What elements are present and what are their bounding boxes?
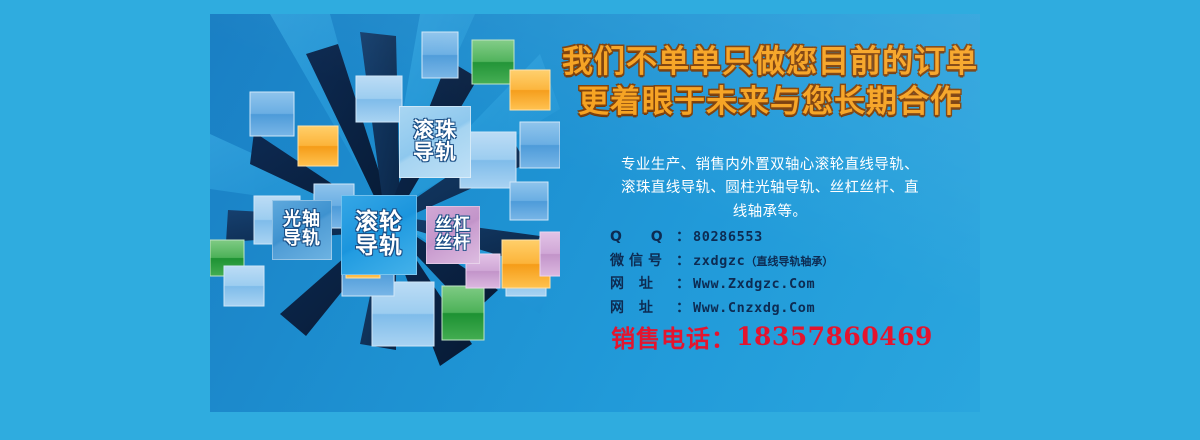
cube-label-line2: 丝杆	[435, 235, 471, 253]
description-line-3: 线轴承等。	[566, 201, 974, 224]
sales-phone[interactable]: 销售电话：18357860469	[570, 319, 974, 354]
contact-row-website-2: 网 址 ： Www.Cnzxdg.Com	[610, 297, 980, 320]
contact-value-wechat[interactable]: zxdgzc	[693, 251, 745, 273]
contact-separator: ：	[676, 250, 690, 272]
contact-label-qq: Q Q	[610, 226, 676, 248]
contact-value-website-1[interactable]: Www.Zxdgzc.Com	[693, 274, 815, 296]
contact-separator: ：	[676, 297, 690, 319]
product-cube-guangzhou-daogui[interactable]: 光轴 导轨	[272, 200, 332, 260]
contact-label-wechat: 微信号	[610, 250, 676, 272]
contact-block: Q Q ： 80286553 微信号 ： zxdgzc （直线导轨轴承） 网 址…	[610, 226, 980, 320]
cube-label-line2: 导轨	[413, 142, 457, 164]
contact-separator: ：	[676, 226, 690, 248]
contact-value-qq[interactable]: 80286553	[693, 227, 763, 249]
headline-line-1: 我们不单单只做您目前的订单	[562, 42, 978, 82]
contact-row-qq: Q Q ： 80286553	[610, 226, 980, 249]
product-cube-sigang-sigan[interactable]: 丝杠 丝杆	[426, 206, 480, 264]
cube-label-line1: 滚轮	[355, 211, 403, 235]
sales-phone-label: 销售电话：	[611, 325, 736, 353]
contact-note-wechat: （直线导轨轴承）	[745, 253, 833, 271]
headline-line-2: 更着眼于未来与您长期合作	[562, 82, 978, 122]
contact-separator: ：	[676, 273, 690, 295]
description-line-2: 滚珠直线导轨、圆柱光轴导轨、丝杠丝杆、直	[566, 177, 974, 200]
product-cube-gunzhu-daogui[interactable]: 滚珠 导轨	[399, 106, 471, 178]
contact-label-website-1: 网 址	[610, 273, 676, 295]
cube-label-line2: 导轨	[283, 230, 321, 249]
contact-label-website-2: 网 址	[610, 297, 676, 319]
contact-value-website-2[interactable]: Www.Cnzxdg.Com	[693, 298, 815, 320]
description-line-1: 专业生产、销售内外置双轴心滚轮直线导轨、	[566, 154, 974, 177]
product-cube-gunlun-daogui[interactable]: 滚轮 导轨	[341, 195, 417, 275]
description-text: 专业生产、销售内外置双轴心滚轮直线导轨、 滚珠直线导轨、圆柱光轴导轨、丝杠丝杆、…	[566, 154, 974, 224]
cube-label-line1: 滚珠	[413, 120, 457, 142]
banner-stage: 滚珠 导轨 光轴 导轨 滚轮 导轨 丝杠 丝杆 我们不单单只做您目前的订单 更着…	[0, 0, 1200, 440]
headline: 我们不单单只做您目前的订单 更着眼于未来与您长期合作	[562, 42, 978, 123]
cube-label-line2: 导轨	[355, 235, 403, 259]
sales-phone-number[interactable]: 18357860469	[736, 322, 933, 351]
copy-column: 我们不单单只做您目前的订单 更着眼于未来与您长期合作 专业生产、销售内外置双轴心…	[560, 14, 980, 412]
contact-row-website-1: 网 址 ： Www.Zxdgzc.Com	[610, 273, 980, 296]
contact-row-wechat: 微信号 ： zxdgzc （直线导轨轴承）	[610, 250, 980, 273]
cube-cluster-graphic: 滚珠 导轨 光轴 导轨 滚轮 导轨 丝杠 丝杆	[210, 14, 560, 412]
banner-panel: 滚珠 导轨 光轴 导轨 滚轮 导轨 丝杠 丝杆 我们不单单只做您目前的订单 更着…	[210, 14, 980, 412]
